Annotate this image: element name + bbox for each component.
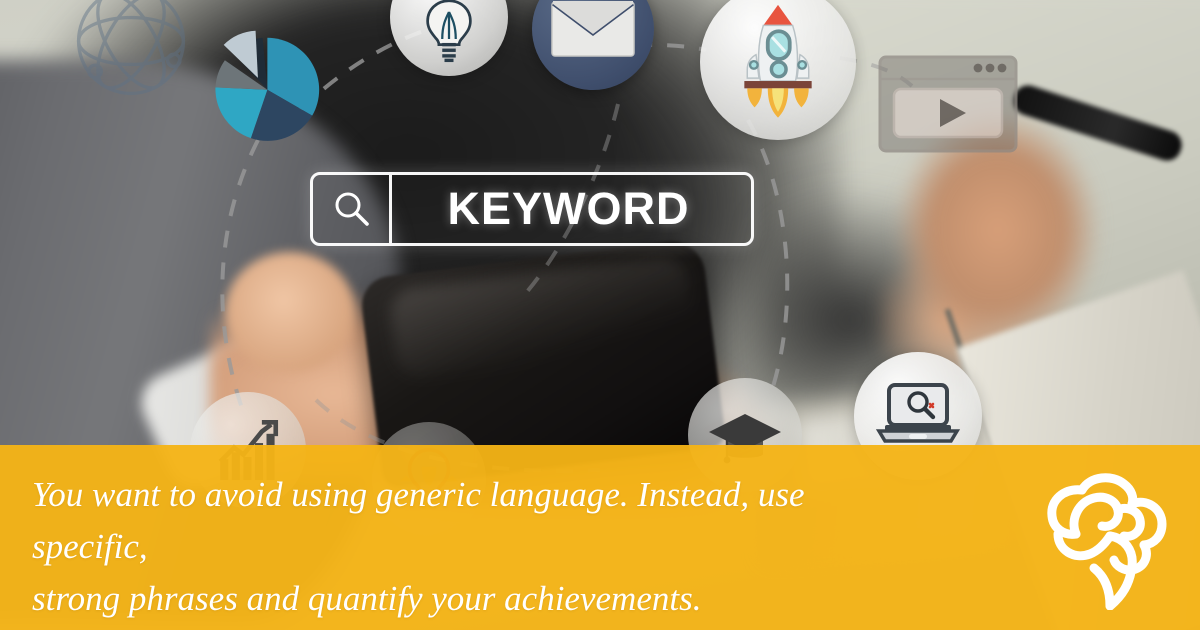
video-player-icon — [878, 55, 1018, 153]
network-globe-icon — [62, 0, 200, 110]
pie-chart-icon — [206, 26, 324, 144]
caption-line-1: You want to avoid using generic language… — [32, 469, 912, 573]
keyword-label: KEYWORD — [392, 183, 751, 235]
banner-graphic: KEYWORD You want to avoid using generic … — [0, 0, 1200, 630]
thumb — [225, 252, 355, 372]
caption-line-2: strong phrases and quantify your achieve… — [32, 573, 912, 625]
caption-banner: You want to avoid using generic language… — [0, 445, 1200, 630]
caption-text: You want to avoid using generic language… — [32, 469, 912, 625]
keyword-search-bar[interactable]: KEYWORD — [310, 172, 754, 246]
magnifier-icon — [331, 189, 371, 229]
brain-logo — [1040, 468, 1172, 610]
search-icon-cell[interactable] — [313, 175, 392, 243]
